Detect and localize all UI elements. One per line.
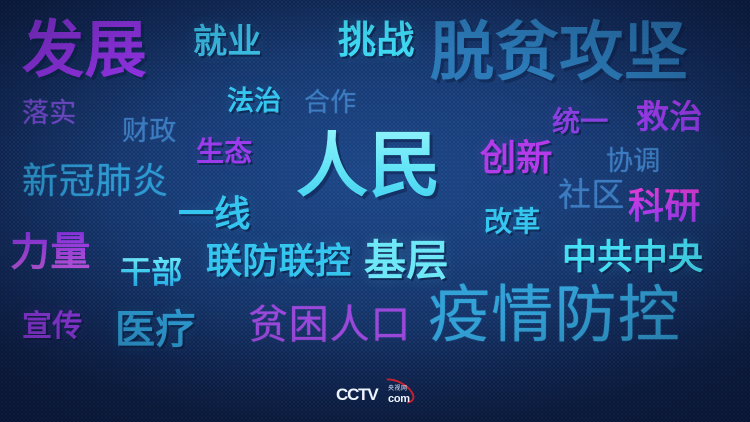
word-13: 协调 [606, 148, 661, 175]
word-0: 发展 [22, 20, 147, 82]
word-14: 新冠肺炎 [22, 163, 169, 199]
word-19: 联防联控 [206, 243, 351, 279]
word-26: 宣传 [22, 312, 83, 342]
cctv-com-label: com [388, 393, 410, 405]
word-18: 改革 [484, 208, 541, 236]
word-20: 基层 [364, 240, 449, 282]
word-12: 创新 [480, 140, 553, 176]
word-24: 贫困人口 [248, 305, 411, 345]
word-11: 人民 [296, 130, 441, 202]
word-7: 财政 [122, 118, 177, 145]
word-27: 医疗 [115, 310, 196, 350]
word-1: 就业 [193, 25, 262, 59]
word-15: 社区 [558, 178, 625, 211]
word-10: 生态 [196, 138, 253, 166]
word-9: 救治 [636, 100, 703, 133]
word-4: 落实 [22, 100, 77, 127]
word-17: 一线 [178, 196, 251, 232]
word-3: 脱贫攻坚 [430, 20, 689, 84]
word-6: 合作 [304, 89, 357, 115]
cctv-logo: CCTV 央视网 com [336, 381, 420, 407]
cctv-wordmark: CCTV [336, 385, 377, 405]
word-21: 中共中央 [562, 240, 703, 275]
cctv-chinese-label: 央视网 [388, 383, 408, 392]
word-23: 干部 [120, 257, 183, 288]
word-22: 力量 [10, 232, 91, 272]
word-cloud-canvas: 发展就业挑战脱贫攻坚落实法治合作财政统一救治生态人民创新协调新冠肺炎社区科研一线… [0, 0, 750, 422]
word-16: 科研 [628, 188, 701, 224]
word-2: 挑战 [338, 22, 415, 60]
word-5: 法治 [227, 88, 282, 115]
word-8: 统一 [552, 108, 609, 136]
word-25: 疫情防控 [428, 285, 681, 347]
